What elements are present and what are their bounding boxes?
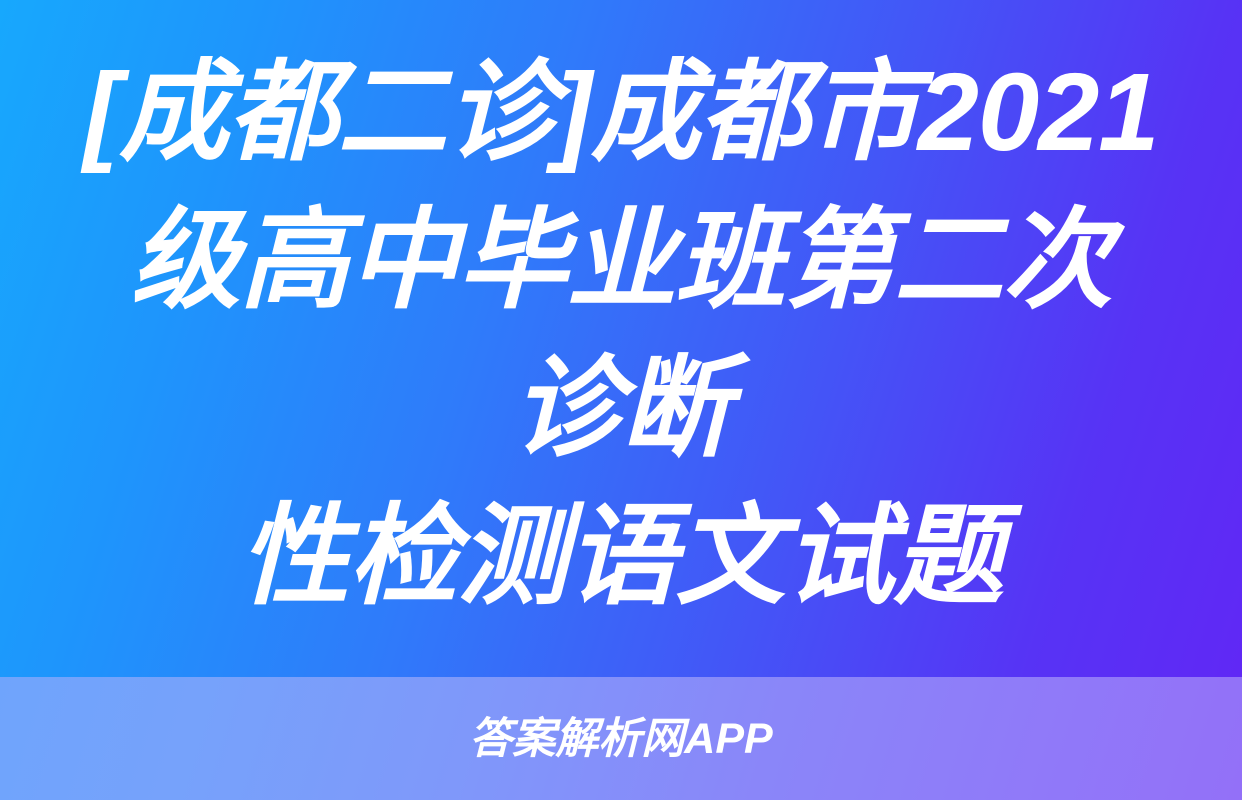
page-title: [成都二诊]成都市2021 级高中毕业班第二次诊断 性检测语文试题: [81, 39, 1161, 631]
footer-watermark-bar: 答案解析网APP: [0, 677, 1242, 800]
app-watermark-label: 答案解析网APP: [469, 718, 772, 761]
hero-gradient-panel: [成都二诊]成都市2021 级高中毕业班第二次诊断 性检测语文试题: [0, 0, 1242, 677]
exam-cover-card: [成都二诊]成都市2021 级高中毕业班第二次诊断 性检测语文试题 答案解析网A…: [0, 0, 1242, 800]
